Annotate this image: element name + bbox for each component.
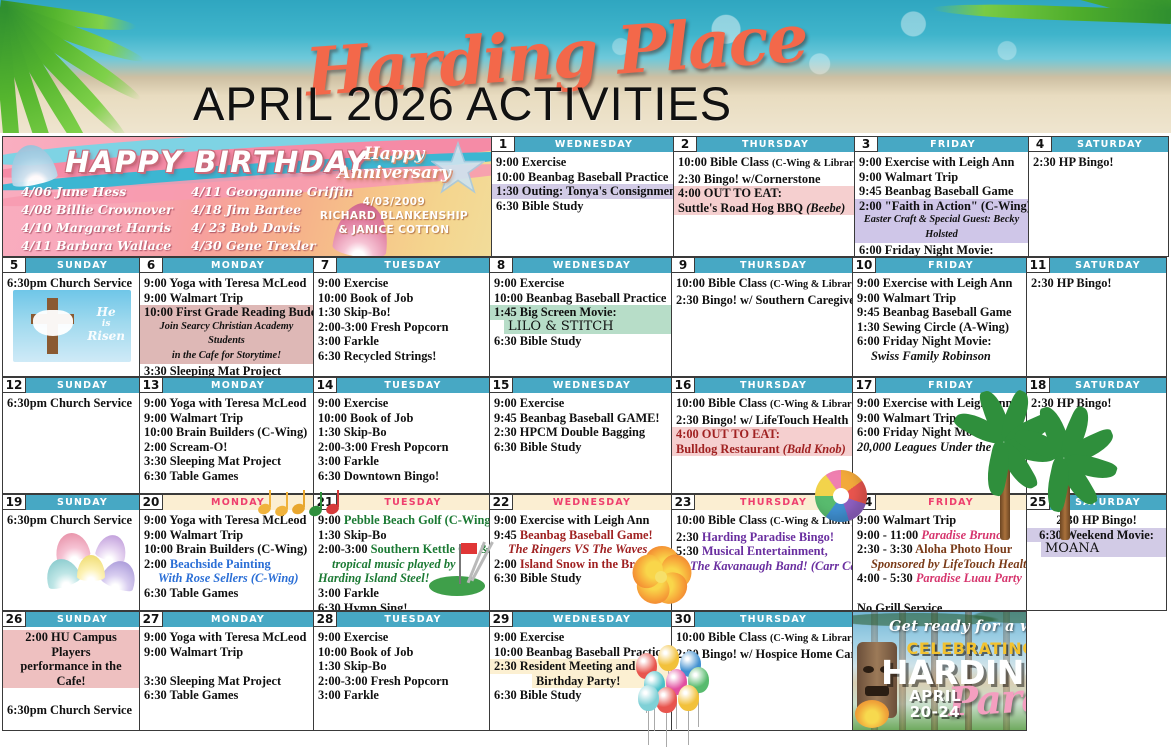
event-text: 6:30 Recycled Strings! [318, 349, 485, 364]
anniversary-name-1: RICHARD BLANKENSHIP [319, 209, 469, 223]
event-text: 4:00 OUT TO EAT: [676, 427, 848, 442]
day-number: 12 [3, 378, 26, 393]
day-number: 8 [490, 258, 513, 273]
event-text: 2:30 Bingo! w/ LifeTouch Health [676, 413, 848, 428]
event-text: 6:30pm Church Service [7, 396, 135, 411]
event-text [7, 688, 135, 703]
balloon-icon [656, 687, 677, 713]
day-header: 29WEDNESDAY [490, 612, 671, 627]
event-text: 1:30 Sewing Circle (A-Wing) [857, 320, 1022, 335]
event-text: 10:00 Bible Class (C-Wing & Library) [676, 276, 848, 293]
banner-month-title: APRIL 2026 ACTIVITIES [193, 76, 732, 131]
event-text: 6:30 Table Games [144, 469, 309, 484]
event-text: 1:45 Big Screen Movie: [494, 305, 667, 320]
day-header: 10FRIDAY [853, 258, 1026, 273]
event-text: 6:30 Hymn Sing! [318, 601, 485, 611]
day-number: 18 [1027, 378, 1050, 393]
day-header: 16THURSDAY [672, 378, 852, 393]
birthday-entry: 4/30 Gene Trexler [191, 237, 351, 255]
day-name: WEDNESDAY [513, 258, 671, 273]
event-text: 9:00 Exercise [318, 396, 485, 411]
event-text: 9:00 Walmart Trip [857, 291, 1022, 306]
calendar-day-cell[interactable]: 9THURSDAY10:00 Bible Class (C-Wing & Lib… [671, 257, 853, 377]
calendar-day-cell[interactable]: 12SUNDAY6:30pm Church Service [2, 377, 140, 494]
event-text: LILO & STITCH [494, 320, 667, 335]
calendar-day-cell[interactable]: 28TUESDAY9:00 Exercise10:00 Book of Job1… [313, 611, 490, 731]
day-name: THURSDAY [697, 137, 854, 152]
day-number: 28 [314, 612, 337, 627]
calendar-day-cell[interactable]: 11SATURDAY2:30 HP Bingo! [1026, 257, 1167, 377]
day-name: FRIDAY [876, 258, 1026, 273]
putting-green-icon [429, 576, 485, 596]
day-header: 15WEDNESDAY [490, 378, 671, 393]
event-text: in the Cafe for Storytime! [144, 349, 309, 364]
day-name: FRIDAY [876, 378, 1026, 393]
event-text: 10:00 Book of Job [318, 291, 485, 306]
event-text: 2:00 Scream-O! [144, 440, 309, 455]
day-number: 2 [674, 137, 697, 152]
day-header: 2THURSDAY [674, 137, 854, 152]
event-text: 6:00 Friday Night Movie: [857, 334, 1022, 349]
birthday-entry: 4/10 Margaret Harris [21, 219, 181, 237]
birthday-entry: 4/06 June Hess [21, 183, 181, 201]
event-text: 2:00 HU Campus Players [7, 630, 135, 659]
day-header: 30THURSDAY [672, 612, 852, 627]
event-text: 2:30 Harding Paradise Bingo! [676, 530, 848, 545]
day-name: SUNDAY [26, 378, 139, 393]
event-text: 10:00 First Grade Reading Buddies! [144, 305, 309, 320]
calendar-week-row: HAPPY BIRTHDAY4/06 June Hess4/08 Billie … [2, 136, 1169, 257]
event-text: 10:00 Beanbag Baseball Practice [494, 291, 667, 306]
day-number: 15 [490, 378, 513, 393]
event-text: 9:00 Exercise [494, 396, 667, 411]
event-text: 6:00 Friday Night Movie: [859, 243, 1024, 257]
day-number: 20 [140, 495, 163, 510]
day-number: 17 [853, 378, 876, 393]
day-events: 9:00 Exercise with Leigh Ann9:00 Walmart… [853, 273, 1026, 366]
event-text: 10:00 Bible Class (C-Wing & Library) [676, 396, 848, 413]
day-header: 5SUNDAY [3, 258, 139, 273]
day-events: 9:00 Exercise10:00 Book of Job1:30 Skip-… [314, 273, 489, 366]
calendar-day-cell[interactable]: 27MONDAY9:00 Yoga with Teresa McLeod9:00… [139, 611, 314, 731]
event-text: 9:45 Beanbag Baseball Game [859, 184, 1024, 199]
calendar-day-cell[interactable]: 8WEDNESDAY9:00 Exercise10:00 Beanbag Bas… [489, 257, 672, 377]
day-events: 9:00 Yoga with Teresa McLeod9:00 Walmart… [140, 510, 313, 603]
anniversary-title: HappyAnniversary [319, 145, 469, 183]
calendar-day-cell[interactable]: 2THURSDAY10:00 Bible Class (C-Wing & Lib… [673, 136, 855, 257]
promo-tagline: Get ready for a week of island fun! [889, 618, 1026, 635]
calendar-day-cell[interactable]: 6MONDAY9:00 Yoga with Teresa McLeod9:00 … [139, 257, 314, 377]
day-number: 19 [3, 495, 26, 510]
day-name: SUNDAY [26, 258, 139, 273]
calendar-day-cell[interactable]: 26SUNDAY2:00 HU Campus Playersperformanc… [2, 611, 140, 731]
event-text: 6:30 Table Games [144, 688, 309, 703]
event-text: 2:30 HP Bingo! [1031, 276, 1162, 291]
day-name: SATURDAY [1050, 378, 1166, 393]
event-text: 4:00 - 5:30 Paradise Luau Party [857, 571, 1022, 586]
balloon-string-icon [688, 711, 689, 745]
calendar-day-cell[interactable]: 10FRIDAY9:00 Exercise with Leigh Ann9:00… [852, 257, 1027, 377]
day-header: 22WEDNESDAY [490, 495, 671, 510]
event-text: 9:00 Exercise [494, 276, 667, 291]
day-number: 30 [672, 612, 695, 627]
calendar-page: Harding Place APRIL 2026 ACTIVITIES HAPP… [0, 0, 1171, 733]
event-text: 9:00 Walmart Trip [144, 645, 309, 660]
calendar-day-cell[interactable]: 15WEDNESDAY9:00 Exercise9:45 Beanbag Bas… [489, 377, 672, 494]
event-text: 10:00 Bible Class (C-Wing & Library) [678, 155, 850, 172]
day-number: 27 [140, 612, 163, 627]
day-number: 23 [672, 495, 695, 510]
day-number: 1 [492, 137, 515, 152]
event-text: 2:30 HP Bingo! [1033, 155, 1164, 170]
header-banner: Harding Place APRIL 2026 ACTIVITIES [0, 0, 1171, 133]
event-text: 3:30 Sleeping Mat Project [144, 364, 309, 377]
day-header: 12SUNDAY [3, 378, 139, 393]
event-text: 6:30pm Church Service [7, 703, 135, 718]
calendar-week-row: 26SUNDAY2:00 HU Campus Playersperformanc… [2, 611, 1169, 731]
event-text: 5:30 Musical Entertainment, [676, 544, 848, 559]
day-number: 29 [490, 612, 513, 627]
event-text: 2:30 Bingo! w/ Southern Caregivers [676, 293, 848, 308]
event-text: Easter Craft & Special Guest: Becky Hols… [859, 213, 1024, 242]
balloon-icon [678, 685, 699, 711]
day-events: 2:30 HP Bingo! [1029, 152, 1168, 172]
birthday-entry: 4/08 Billie Crownover [21, 201, 181, 219]
day-header: 17FRIDAY [853, 378, 1026, 393]
event-text: Swiss Family Robinson [857, 349, 1022, 364]
day-number: 26 [3, 612, 26, 627]
event-text: 6:30 Table Games [144, 586, 309, 601]
day-events: 9:00 Yoga with Teresa McLeod9:00 Walmart… [140, 393, 313, 486]
day-header: 3FRIDAY [855, 137, 1028, 152]
day-number: 3 [855, 137, 878, 152]
day-header: 28TUESDAY [314, 612, 489, 627]
day-header: 8WEDNESDAY [490, 258, 671, 273]
day-events: 10:00 Bible Class (C-Wing & Library)2:30… [672, 510, 852, 575]
calendar-day-cell[interactable]: 19SUNDAY6:30pm Church Service [2, 494, 140, 611]
day-number: 4 [1029, 137, 1052, 152]
event-text: 9:00 Walmart Trip [144, 411, 309, 426]
day-header: 9THURSDAY [672, 258, 852, 273]
day-events: 9:00 Exercise10:00 Book of Job1:30 Skip-… [314, 627, 489, 705]
day-number: 6 [140, 258, 163, 273]
music-notes-icon [258, 492, 348, 518]
event-text: 2:30 Bingo! w/Cornerstone [678, 172, 850, 187]
event-text: 2:00 Beachside Painting [144, 557, 309, 572]
calendar-day-cell[interactable]: 14TUESDAY9:00 Exercise10:00 Book of Job1… [313, 377, 490, 494]
day-header: 7TUESDAY [314, 258, 489, 273]
day-header: 13MONDAY [140, 378, 313, 393]
seashells-image [43, 533, 140, 595]
event-text: 9:00 Exercise with Leigh Ann [859, 155, 1024, 170]
day-name: THURSDAY [695, 258, 852, 273]
day-header: 26SUNDAY [3, 612, 139, 627]
event-text: 3:30 Sleeping Mat Project [144, 674, 309, 689]
event-text [857, 586, 1022, 601]
day-number: 9 [672, 258, 695, 273]
calendar-week-row: 5SUNDAY6:30pm Church ServiceHeisRisen6MO… [2, 257, 1169, 377]
beach-ball-icon [815, 470, 867, 522]
event-text: 6:30 Bible Study [494, 440, 667, 455]
golf-icon [425, 530, 505, 602]
day-events: 9:00 Exercise10:00 Beanbag Baseball Prac… [490, 273, 671, 351]
day-header: 27MONDAY [140, 612, 313, 627]
event-text: 10:00 Brain Builders (C-Wing) [144, 542, 309, 557]
event-text: With Rose Sellers (C-Wing) [144, 571, 309, 586]
day-name: WEDNESDAY [513, 378, 671, 393]
event-text: 9:00 Yoga with Teresa McLeod [144, 396, 309, 411]
event-text: MOANA [1031, 542, 1162, 557]
event-text: Sponsored by LifeTouch Health [857, 557, 1022, 572]
day-events: 9:00 Exercise9:45 Beanbag Baseball GAME!… [490, 393, 671, 456]
day-header: 11SATURDAY [1027, 258, 1166, 273]
day-name: WEDNESDAY [513, 495, 671, 510]
day-name: SUNDAY [26, 612, 139, 627]
event-text: No Grill Service [857, 601, 1022, 611]
calendar-day-cell[interactable]: 4SATURDAY2:30 HP Bingo! [1028, 136, 1169, 257]
event-text: 9:45 Beanbag Baseball Game! [494, 528, 667, 543]
day-name: SUNDAY [26, 495, 139, 510]
day-events: 2:30 HP Bingo! [1027, 273, 1166, 293]
event-text: 6:30pm Church Service [7, 276, 135, 291]
music-note-stem-icon [286, 492, 288, 509]
hibiscus-flower-icon [855, 700, 889, 728]
event-text: 9:00 Exercise with Leigh Ann [857, 276, 1022, 291]
calendar-day-cell[interactable]: 3FRIDAY9:00 Exercise with Leigh Ann9:00 … [854, 136, 1029, 257]
day-number: 16 [672, 378, 695, 393]
day-events: 10:00 Bible Class (C-Wing & Library)2:30… [674, 152, 854, 217]
day-events: 9:00 Exercise with Leigh Ann9:00 Walmart… [855, 152, 1028, 257]
event-text: 6:30 Bible Study [496, 199, 669, 214]
day-events: 2:00 HU Campus Playersperformance in the… [3, 627, 139, 720]
palm-trees-image [940, 430, 1150, 540]
day-header: 6MONDAY [140, 258, 313, 273]
event-text: 1:30 Skip-Bo [318, 659, 485, 674]
balloons-icon [630, 645, 740, 737]
day-name: WEDNESDAY [513, 612, 671, 627]
event-text: 2:00-3:00 Fresh Popcorn [318, 440, 485, 455]
event-text [144, 659, 309, 674]
day-number: 5 [3, 258, 26, 273]
day-events: 9:00 Exercise10:00 Beanbag Baseball Prac… [492, 152, 673, 215]
day-number: 14 [314, 378, 337, 393]
event-text: 9:00 Walmart Trip [144, 291, 309, 306]
day-name: WEDNESDAY [515, 137, 673, 152]
event-text: Suttle's Road Hog BBQ (Beebe) [678, 201, 850, 216]
event-text: 9:00 Yoga with Teresa McLeod [144, 630, 309, 645]
event-text: 10:00 Bible Class (C-Wing & Library) [676, 513, 848, 530]
day-number: 7 [314, 258, 337, 273]
balloon-icon [638, 685, 659, 711]
event-text: 2:30 HPCM Double Bagging [494, 425, 667, 440]
promo-dates: APRIL20-24 [905, 688, 965, 720]
paradise-promo-panel: Get ready for a week of island fun!CELEB… [852, 611, 1027, 731]
day-name: THURSDAY [695, 378, 852, 393]
day-name: SATURDAY [1052, 137, 1168, 152]
day-events: 9:00 Exercise10:00 Book of Job1:30 Skip-… [314, 393, 489, 486]
calendar-day-cell[interactable]: 1WEDNESDAY9:00 Exercise10:00 Beanbag Bas… [491, 136, 674, 257]
day-name: MONDAY [163, 612, 313, 627]
event-text: 9:00 Exercise [318, 276, 485, 291]
day-name: TUESDAY [337, 612, 489, 627]
anniversary-date: 4/03/2009 [319, 195, 469, 209]
event-text: 2:00-3:00 Fresh Popcorn [318, 320, 485, 335]
day-events: 6:30pm Church Service [3, 510, 139, 530]
calendar-day-cell[interactable]: 7TUESDAY9:00 Exercise10:00 Book of Job1:… [313, 257, 490, 377]
day-header: 19SUNDAY [3, 495, 139, 510]
birthday-column: 4/06 June Hess4/08 Billie Crownover4/10 … [21, 183, 181, 255]
golf-flag-icon [461, 543, 477, 554]
day-events: 10:00 Bible Class (C-Wing & Library)2:30… [672, 393, 852, 458]
event-text: 10:00 Brain Builders (C-Wing) [144, 425, 309, 440]
music-note-stem-icon [269, 490, 271, 507]
event-text: 3:00 Farkle [318, 688, 485, 703]
easter-cross-image: HeisRisen [13, 290, 131, 362]
event-text: 2:30 - 3:30 Aloha Photo Hour [857, 542, 1022, 557]
day-header: 1WEDNESDAY [492, 137, 673, 152]
music-note-stem-icon [303, 490, 305, 507]
event-text: 9:00 Exercise [496, 155, 669, 170]
day-name: TUESDAY [337, 495, 489, 510]
event-text: 10:00 Book of Job [318, 411, 485, 426]
event-text: The Kavanaugh Band! (Carr Cafe) [676, 559, 848, 574]
event-text: 10:00 Book of Job [318, 645, 485, 660]
day-number: 11 [1027, 258, 1050, 273]
flower-center-icon [655, 571, 667, 583]
event-text: 2:00 "Faith in Action" (C-Wing) [859, 199, 1024, 214]
event-text: 9:00 Exercise [318, 630, 485, 645]
event-text: 6:30 Downtown Bingo! [318, 469, 485, 484]
birthday-entry: 4/11 Barbara Wallace [21, 237, 181, 255]
day-name: TUESDAY [337, 258, 489, 273]
birthday-anniversary-panel: HAPPY BIRTHDAY4/06 June Hess4/08 Billie … [2, 136, 492, 257]
event-text: 6:30 Bible Study [494, 334, 667, 349]
event-text: 3:00 Farkle [318, 334, 485, 349]
shell-icon [99, 556, 140, 594]
balloon-string-icon [666, 713, 667, 747]
event-text: 2:00-3:00 Fresh Popcorn [318, 674, 485, 689]
day-header: 14TUESDAY [314, 378, 489, 393]
event-text: 1:30 Outing: Tonya's Consignment [496, 184, 669, 199]
day-number: 13 [140, 378, 163, 393]
day-events: 6:30pm Church Service [3, 393, 139, 413]
event-text: 1:30 Skip-Bo! [318, 305, 485, 320]
shell-icon [77, 555, 105, 581]
event-text: 9:00 Yoga with Teresa McLeod [144, 276, 309, 291]
day-events: 10:00 Bible Class (C-Wing & Library)2:30… [672, 273, 852, 309]
day-header: 18SATURDAY [1027, 378, 1166, 393]
event-text: 9:45 Beanbag Baseball GAME! [494, 411, 667, 426]
music-note-stem-icon [337, 490, 339, 507]
event-text: 10:00 Beanbag Baseball Practice [496, 170, 669, 185]
event-text: 9:00 Walmart Trip [144, 528, 309, 543]
day-name: MONDAY [163, 378, 313, 393]
day-header: 4SATURDAY [1029, 137, 1168, 152]
calendar-day-cell[interactable]: 13MONDAY9:00 Yoga with Teresa McLeod9:00… [139, 377, 314, 494]
day-name: TUESDAY [337, 378, 489, 393]
day-name: SATURDAY [1050, 258, 1166, 273]
balloon-icon [658, 645, 679, 671]
event-text: 4:00 OUT TO EAT: [678, 186, 850, 201]
music-note-stem-icon [320, 492, 322, 509]
day-events: 9:00 Yoga with Teresa McLeod9:00 Walmart… [140, 627, 313, 705]
day-number: 10 [853, 258, 876, 273]
event-text: 9:45 Beanbag Baseball Game [857, 305, 1022, 320]
calendar-day-cell[interactable]: 5SUNDAY6:30pm Church ServiceHeisRisen [2, 257, 140, 377]
cross-caption: HeisRisen [87, 306, 125, 342]
event-text: Bulldog Restaurant (Bald Knob) [676, 442, 848, 457]
day-name: FRIDAY [878, 137, 1028, 152]
balloon-string-icon [648, 711, 649, 745]
event-text: 9:00 Exercise [494, 630, 667, 645]
anniversary-block: HappyAnniversary4/03/2009RICHARD BLANKEN… [319, 145, 469, 237]
day-number: 22 [490, 495, 513, 510]
anniversary-name-2: & JANICE COTTON [319, 223, 469, 237]
event-text: Join Searcy Christian Academy Students [144, 320, 309, 349]
hibiscus-flower-icon [625, 543, 697, 609]
birthday-list: 4/06 June Hess4/08 Billie Crownover4/10 … [21, 183, 351, 255]
event-text: 1:30 Skip-Bo [318, 425, 485, 440]
event-text: 9:00 Walmart Trip [859, 170, 1024, 185]
day-name: MONDAY [163, 258, 313, 273]
day-name: THURSDAY [695, 612, 852, 627]
day-events: 9:00 Yoga with Teresa McLeod9:00 Walmart… [140, 273, 313, 377]
event-text: 3:30 Sleeping Mat Project [144, 454, 309, 469]
event-text: 3:00 Farkle [318, 454, 485, 469]
event-text: 9:00 Exercise with Leigh Ann [494, 513, 667, 528]
event-text: performance in the Cafe! [7, 659, 135, 688]
event-text: 6:30pm Church Service [7, 513, 135, 528]
